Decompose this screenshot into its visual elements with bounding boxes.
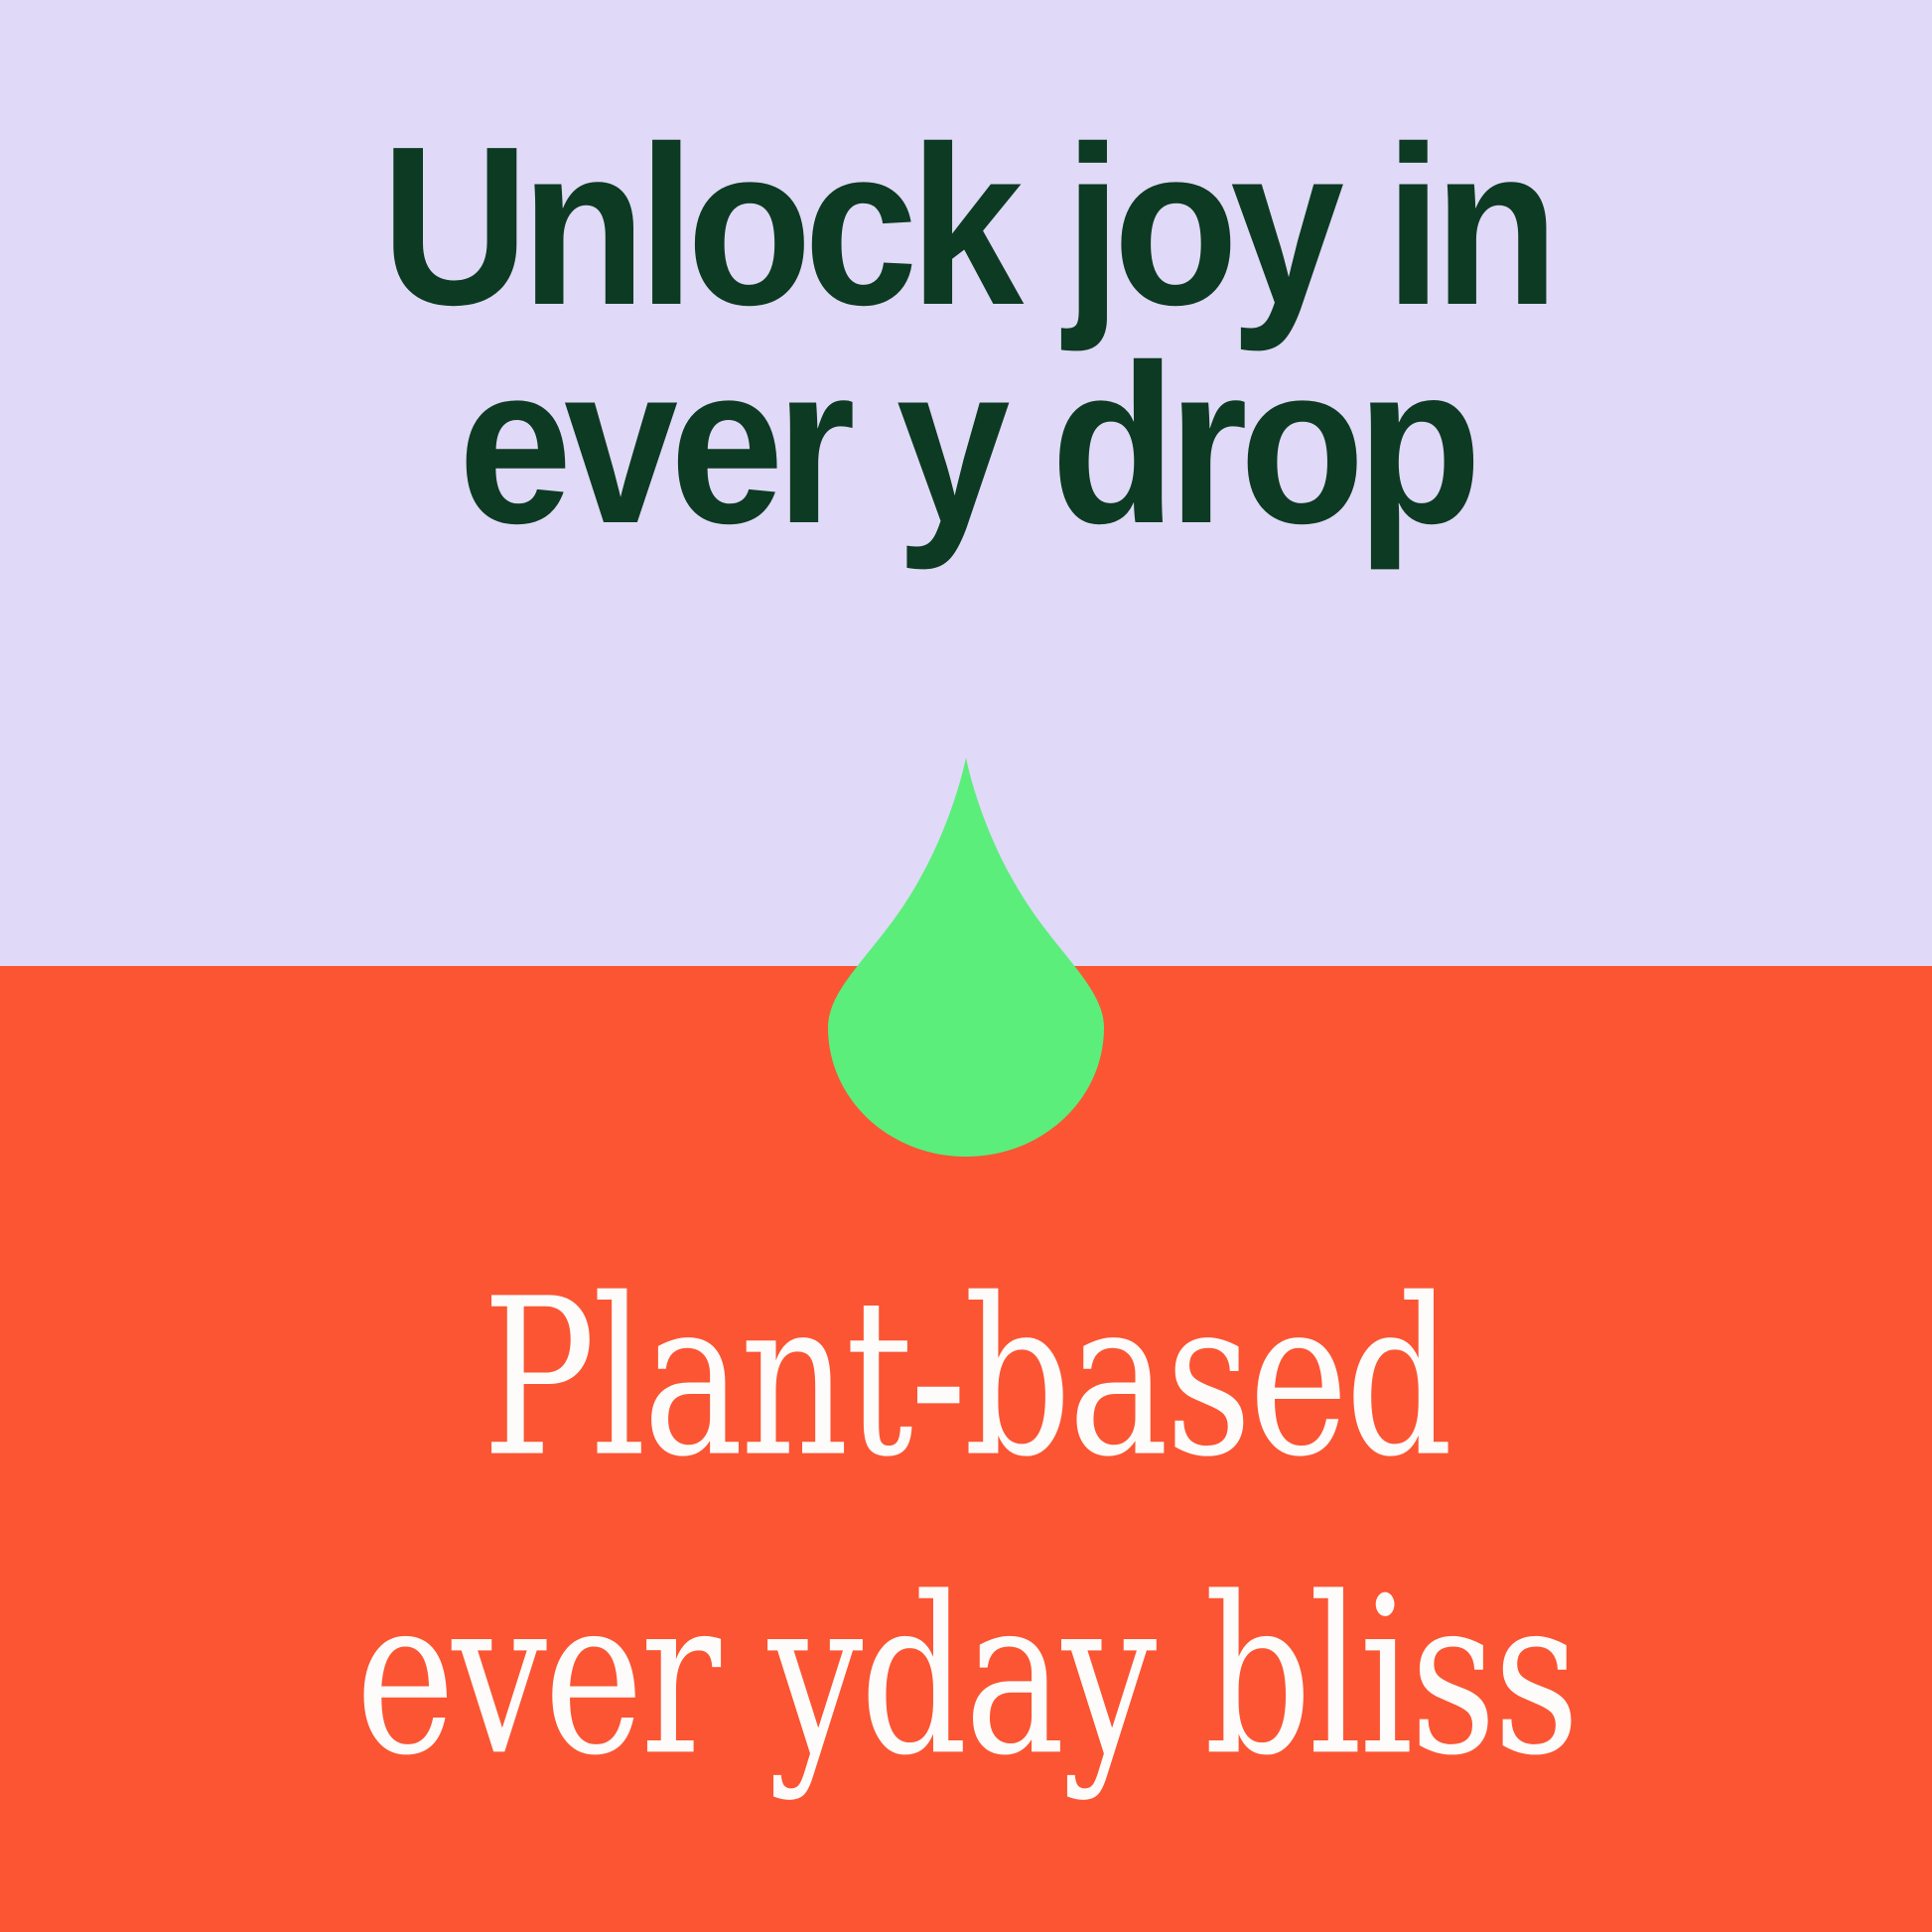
headline-text: Unlock joy in ever y drop xyxy=(91,117,1840,554)
water-droplet-shape xyxy=(828,758,1104,1157)
subline-text: Plant-based ever yday bliss xyxy=(194,1229,1739,1825)
poster-canvas: Unlock joy in ever y drop Plant-based ev… xyxy=(0,0,1932,1932)
water-droplet-icon xyxy=(828,758,1104,1157)
